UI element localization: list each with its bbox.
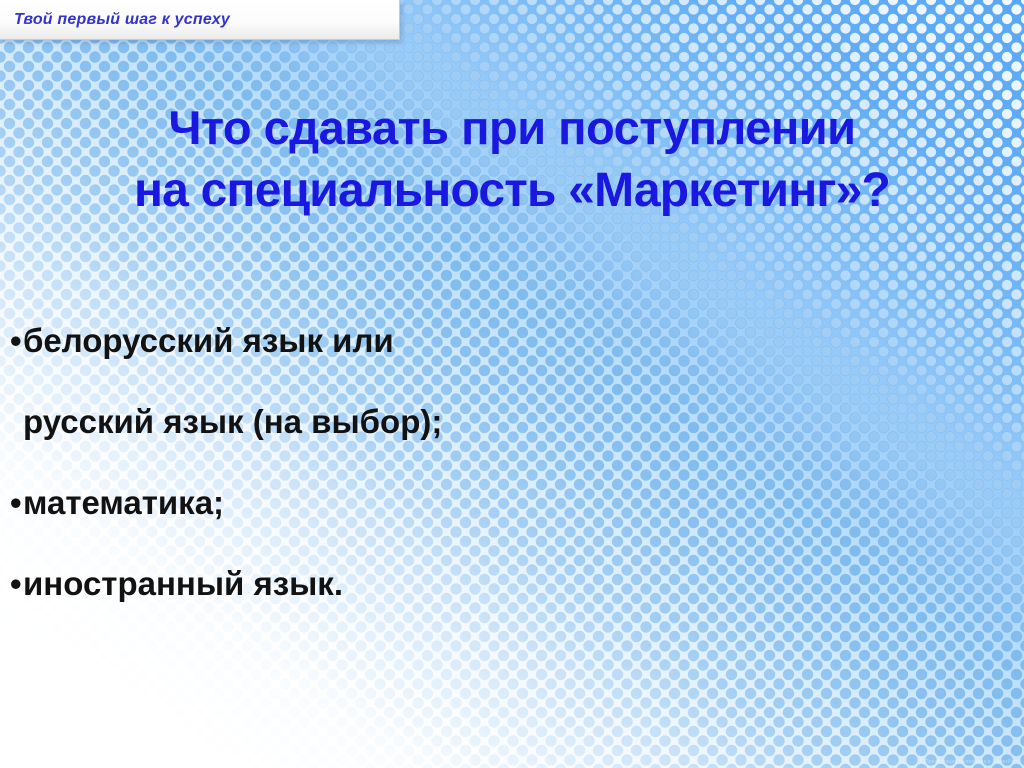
page-title: Что сдавать при поступлении на специальн…	[0, 96, 1024, 222]
title-line-2: на специальность «Маркетинг»?	[0, 159, 1024, 222]
list-item: • математика;	[10, 484, 830, 565]
list-item-label: русский язык (на выбор);	[23, 403, 442, 441]
corner-watermark: Презентация выполнена в PowerPoint	[925, 759, 1020, 765]
header-tab-label: Твой первый шаг к успеху	[14, 11, 230, 29]
list-item-label: белорусский язык или	[23, 322, 394, 360]
slide-canvas: Твой первый шаг к успеху Что сдавать при…	[0, 0, 1024, 768]
bullet-icon	[10, 403, 23, 441]
list-item: • белорусский язык или	[10, 322, 830, 403]
list-item: русский язык (на выбор);	[10, 403, 830, 484]
list-item: • иностранный язык.	[10, 565, 830, 646]
header-tab[interactable]: Твой первый шаг к успеху	[0, 0, 400, 40]
bullet-icon: •	[10, 484, 23, 522]
list-item-label: иностранный язык.	[23, 565, 343, 603]
bullet-icon: •	[10, 322, 23, 360]
requirements-list: • белорусский язык или русский язык (на …	[10, 322, 830, 646]
bullet-icon: •	[10, 565, 23, 603]
list-item-label: математика;	[23, 484, 224, 522]
title-line-1: Что сдавать при поступлении	[0, 96, 1024, 159]
